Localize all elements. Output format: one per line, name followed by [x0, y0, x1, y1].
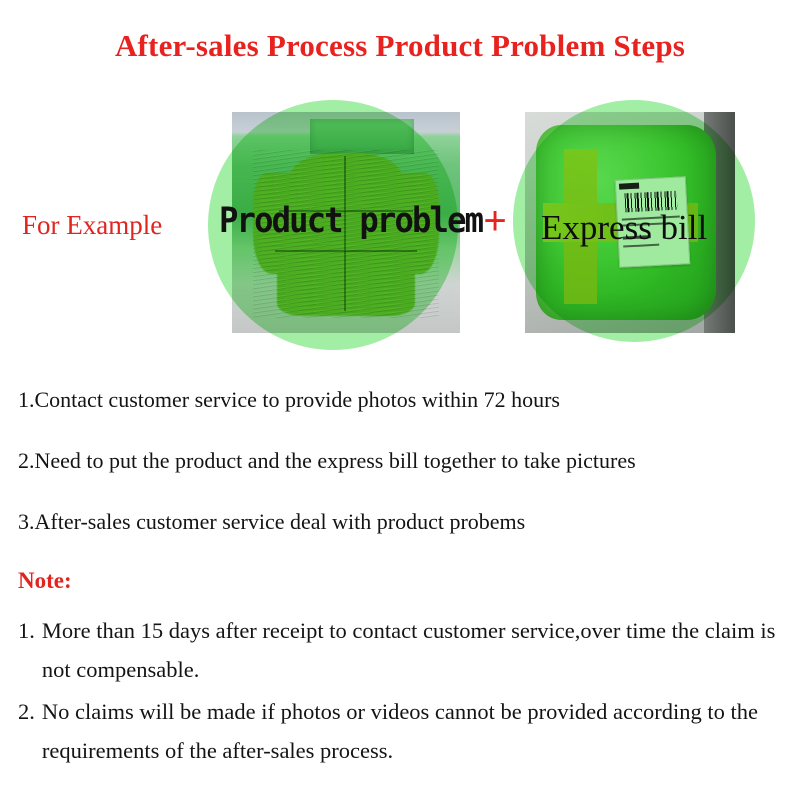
plus-icon: + [478, 204, 512, 238]
note-item: 1. More than 15 days after receipt to co… [18, 612, 796, 689]
for-example-label: For Example [22, 210, 162, 241]
step-item: 3.After-sales customer service deal with… [18, 510, 788, 533]
steps-list: 1.Contact customer service to provide ph… [18, 388, 788, 571]
note-heading: Note: [18, 568, 72, 594]
step-item: 1.Contact customer service to provide ph… [18, 388, 788, 411]
page-title: After-sales Process Product Problem Step… [0, 28, 800, 64]
note-item-number: 2. [18, 693, 42, 770]
note-list: 1. More than 15 days after receipt to co… [18, 612, 796, 775]
note-item: 2. No claims will be made if photos or v… [18, 693, 796, 770]
note-item-number: 1. [18, 612, 42, 689]
note-item-text: More than 15 days after receipt to conta… [42, 612, 796, 689]
express-bill-caption: Express bill [541, 208, 707, 248]
note-item-text: No claims will be made if photos or vide… [42, 693, 796, 770]
product-problem-caption: Product problem [219, 201, 482, 241]
example-illustration-row: For Example [0, 100, 800, 350]
step-item: 2.Need to put the product and the expres… [18, 449, 788, 472]
